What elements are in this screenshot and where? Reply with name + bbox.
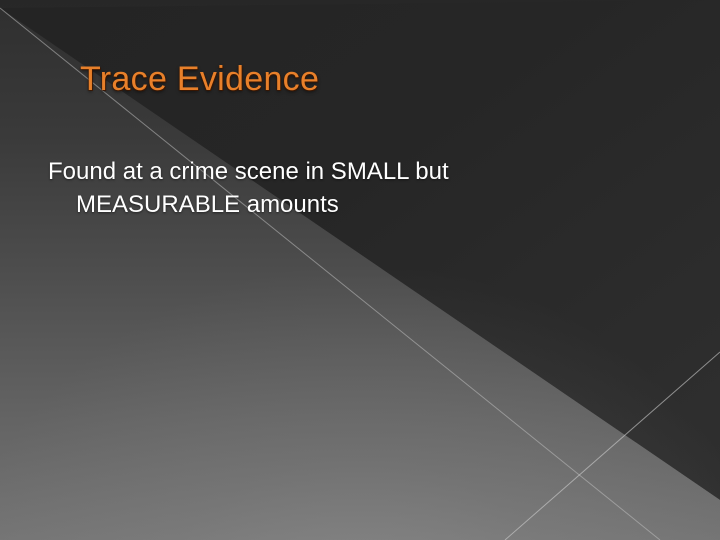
- slide-title: Trace Evidence: [80, 57, 319, 101]
- slide-canvas: Trace Evidence Found at a crime scene in…: [0, 0, 720, 540]
- slide-body-text: Found at a crime scene in SMALL but MEAS…: [48, 155, 596, 221]
